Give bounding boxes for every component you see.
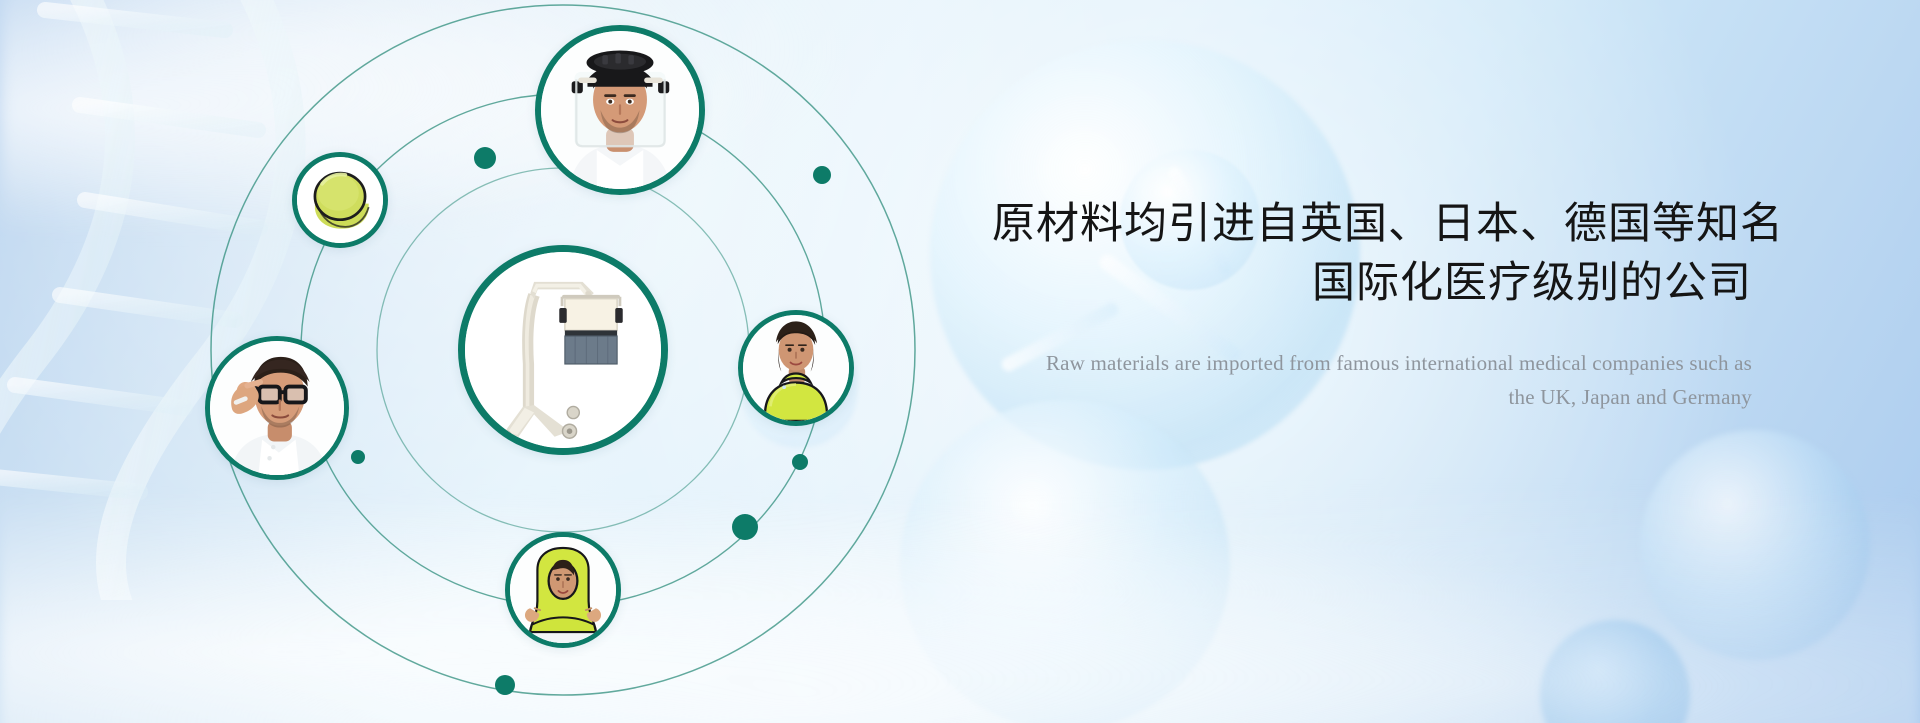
orbit-dot-6 (495, 675, 515, 695)
protective-hood-woman-photo (510, 537, 616, 643)
molecule-sphere-bottom-right-decor (1640, 430, 1870, 660)
bubble-face-shield-man[interactable] (535, 25, 705, 195)
product-orbit-diagram (0, 0, 960, 723)
bubble-thyroid-collar-woman[interactable] (738, 310, 854, 426)
orbit-dot-2 (813, 166, 831, 184)
thyroid-collar-woman-photo (743, 315, 849, 421)
hero-banner: 原材料均引进自英国、日本、德国等知名 国际化医疗级别的公司 Raw materi… (0, 0, 1920, 723)
subtitle-line-2: the UK, Japan and Germany (992, 380, 1752, 414)
subtitle-line-1: Raw materials are imported from famous i… (992, 346, 1752, 380)
molecule-sphere-bottom-right-small-decor (1540, 620, 1690, 723)
headline-line-1: 原材料均引进自英国、日本、德国等知名 (992, 196, 1752, 253)
subtitle-block: Raw materials are imported from famous i… (992, 346, 1752, 414)
orbit-dot-4 (792, 454, 808, 470)
orbit-dot-5 (732, 514, 758, 540)
bubble-leaded-glasses-man[interactable] (205, 336, 349, 480)
headline-line-2: 国际化医疗级别的公司 (992, 255, 1752, 312)
mobile-xray-shield-photo (465, 252, 661, 448)
face-shield-man-photo (541, 31, 699, 189)
hero-text-block: 原材料均引进自英国、日本、德国等知名 国际化医疗级别的公司 Raw materi… (992, 196, 1752, 414)
bubble-lead-cap[interactable] (292, 152, 388, 248)
bubble-protective-hood-woman[interactable] (505, 532, 621, 648)
orbit-dot-3 (351, 450, 365, 464)
leaded-glasses-man-photo (210, 341, 344, 475)
yellow-lead-cap-photo (297, 157, 383, 243)
bubble-mobile-xray-shield[interactable] (458, 245, 668, 455)
orbit-dot-1 (474, 147, 496, 169)
